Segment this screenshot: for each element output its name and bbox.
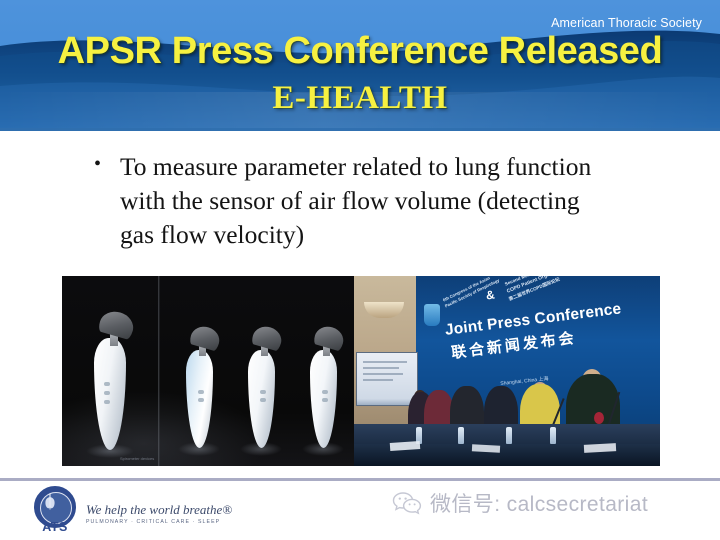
wechat-icon bbox=[392, 491, 422, 515]
slide-subtitle: E-HEALTH bbox=[0, 80, 720, 117]
photo-left-caption: Spirometer devices bbox=[120, 456, 154, 461]
slide-photo: Spirometer devices 6th Congress of the A… bbox=[62, 276, 660, 466]
photo-left-devices: Spirometer devices bbox=[62, 276, 354, 466]
apsr-logo-icon bbox=[424, 304, 440, 326]
slide-header-banner: American Thoracic Society APSR Press Con… bbox=[0, 0, 720, 131]
slide-body: • To measure parameter related to lung f… bbox=[94, 150, 614, 252]
ats-tagline-block: We help the world breathe® PULMONARY · C… bbox=[86, 502, 232, 525]
presentation-slide: American Thoracic Society APSR Press Con… bbox=[0, 0, 720, 540]
bullet-item: • To measure parameter related to lung f… bbox=[94, 150, 614, 252]
spirometer-device-2 bbox=[178, 316, 226, 448]
corsage-icon bbox=[594, 412, 604, 424]
water-bottle-4 bbox=[550, 427, 556, 444]
spirometer-device-1 bbox=[84, 300, 140, 450]
footer-divider bbox=[0, 478, 720, 481]
photo-right-press-conference: 6th Congress of the Asian Pacific Societ… bbox=[354, 276, 660, 466]
water-bottle-2 bbox=[458, 427, 464, 444]
bullet-marker: • bbox=[94, 150, 120, 179]
paper-3 bbox=[584, 443, 616, 453]
organization-name: American Thoracic Society bbox=[551, 16, 702, 30]
backdrop-banner-ampersand: & bbox=[485, 288, 495, 303]
spirometer-device-3 bbox=[240, 316, 288, 448]
bullet-text: To measure parameter related to lung fun… bbox=[120, 150, 614, 252]
lungs-icon bbox=[43, 493, 57, 511]
ats-tagline: We help the world breathe® bbox=[86, 502, 232, 518]
ats-logo: ATS bbox=[28, 486, 82, 534]
slide-title: APSR Press Conference Released bbox=[0, 30, 720, 73]
ats-wordmark: ATS bbox=[28, 520, 82, 534]
header-bottom-rule bbox=[0, 128, 720, 131]
water-bottle-3 bbox=[506, 427, 512, 444]
presentation-monitor bbox=[356, 352, 418, 406]
wechat-watermark: 微信号: calcsecretariat bbox=[392, 488, 648, 518]
spirometer-device-4 bbox=[302, 316, 350, 448]
wechat-id-label: 微信号: calcsecretariat bbox=[430, 488, 648, 518]
photo-divider-2 bbox=[159, 276, 160, 466]
ats-tagline-sub: PULMONARY · CRITICAL CARE · SLEEP bbox=[86, 519, 232, 525]
paper-2 bbox=[472, 444, 500, 452]
